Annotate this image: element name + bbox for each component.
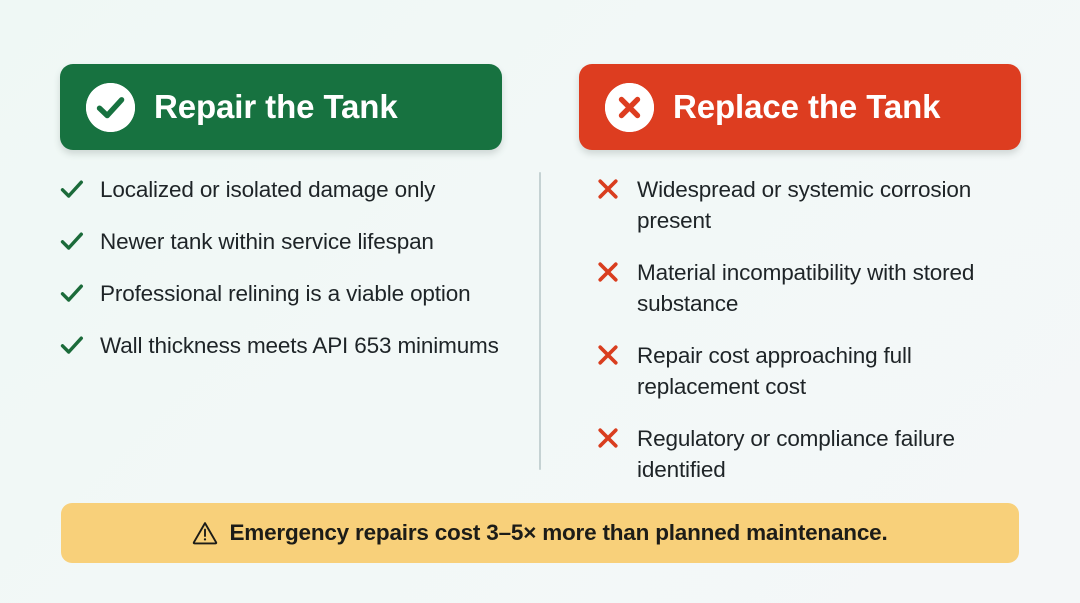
- check-icon: [60, 174, 84, 202]
- list-item: Localized or isolated damage only: [60, 174, 529, 205]
- infographic-root: Repair the Tank Replace the Tank Loca: [0, 0, 1080, 603]
- check-icon: [60, 278, 84, 306]
- list-item: Newer tank within service lifespan: [60, 226, 529, 257]
- check-circle-icon: [86, 83, 135, 132]
- repair-header-title: Repair the Tank: [154, 88, 398, 126]
- list-item-label: Material incompatibility with stored sub…: [637, 257, 1002, 319]
- list-item-label: Newer tank within service lifespan: [100, 226, 434, 257]
- replace-criteria-column: Widespread or systemic corrosion present…: [539, 174, 1020, 485]
- repair-header-pill: Repair the Tank: [60, 64, 502, 150]
- x-icon: [597, 174, 621, 202]
- list-item-label: Regulatory or compliance failure identif…: [637, 423, 1002, 485]
- list-item: Wall thickness meets API 653 minimums: [60, 330, 529, 361]
- list-item-label: Localized or isolated damage only: [100, 174, 435, 205]
- replace-header-pill: Replace the Tank: [579, 64, 1021, 150]
- warning-banner-text: Emergency repairs cost 3–5× more than pl…: [229, 520, 887, 546]
- list-item-label: Widespread or systemic corrosion present: [637, 174, 1002, 236]
- header-row: Repair the Tank Replace the Tank: [60, 64, 1020, 150]
- replace-header-title: Replace the Tank: [673, 88, 940, 126]
- warning-banner: Emergency repairs cost 3–5× more than pl…: [61, 503, 1019, 563]
- x-circle-icon: [605, 83, 654, 132]
- list-item: Material incompatibility with stored sub…: [597, 257, 1020, 319]
- list-item-label: Wall thickness meets API 653 minimums: [100, 330, 499, 361]
- check-icon: [60, 226, 84, 254]
- x-icon: [597, 257, 621, 285]
- x-icon: [597, 340, 621, 368]
- criteria-columns: Localized or isolated damage only Newer …: [60, 174, 1020, 485]
- warning-triangle-icon: [192, 520, 218, 546]
- list-item: Widespread or systemic corrosion present: [597, 174, 1020, 236]
- list-item: Regulatory or compliance failure identif…: [597, 423, 1020, 485]
- x-icon: [597, 423, 621, 451]
- list-item-label: Repair cost approaching full replacement…: [637, 340, 1002, 402]
- list-item: Professional relining is a viable option: [60, 278, 529, 309]
- list-item-label: Professional relining is a viable option: [100, 278, 470, 309]
- list-item: Repair cost approaching full replacement…: [597, 340, 1020, 402]
- repair-criteria-column: Localized or isolated damage only Newer …: [60, 174, 539, 485]
- check-icon: [60, 330, 84, 358]
